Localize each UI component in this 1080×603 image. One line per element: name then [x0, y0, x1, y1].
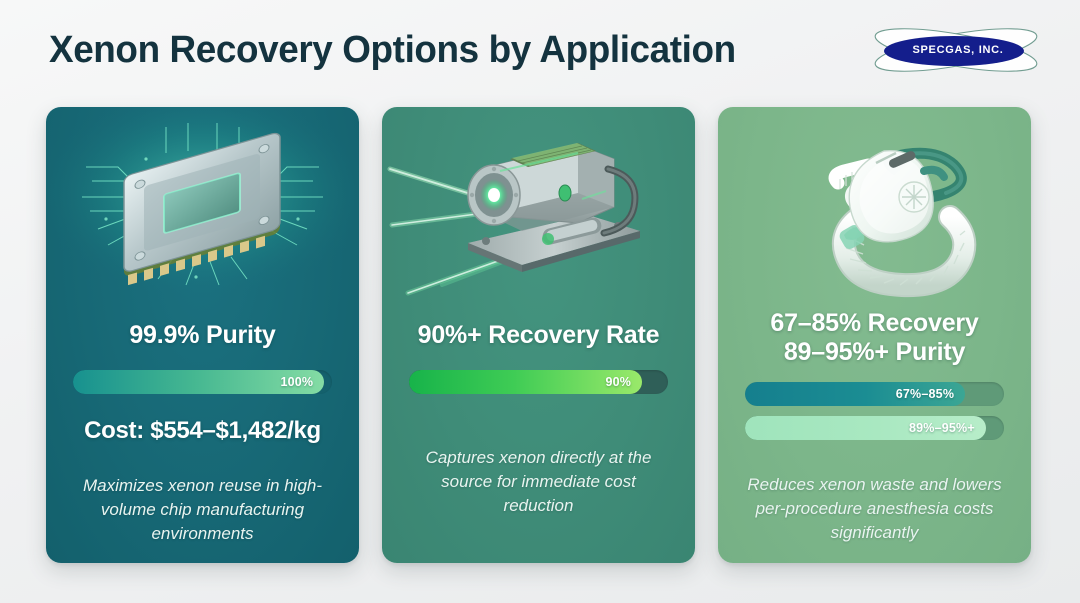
card-bars: 90% [382, 370, 695, 404]
card-semiconductor[interactable]: 99.9% Purity 100% Cost: $554–$1,482/kg M… [46, 107, 359, 563]
card-anesthesia[interactable]: 67–85% Recovery 89–95%+ Purity 67%–85% 8… [718, 107, 1031, 563]
card-headline: 99.9% Purity [115, 321, 289, 350]
progress-bar-fill: 90% [409, 370, 642, 394]
card-bars: 67%–85% 89%–95%+ [718, 382, 1031, 450]
card-description: Reduces xenon waste and lowers per-proce… [718, 473, 1031, 545]
progress-bar-purity[interactable]: 100% [73, 370, 332, 394]
anesthesia-mask-icon [718, 107, 1031, 299]
cards-row: 99.9% Purity 100% Cost: $554–$1,482/kg M… [46, 107, 1034, 563]
page-title: Xenon Recovery Options by Application [49, 29, 736, 72]
progress-bar-recovery[interactable]: 67%–85% [745, 382, 1004, 406]
microchip-icon [46, 107, 359, 299]
logo-text: SPECGAS, INC. [872, 19, 1040, 81]
card-laser[interactable]: 90%+ Recovery Rate 90% Captures xenon di… [382, 107, 695, 563]
card-headline: 67–85% Recovery 89–95%+ Purity [756, 309, 992, 366]
card-headline: 90%+ Recovery Rate [404, 321, 674, 350]
progress-bar-label: 90% [605, 375, 631, 389]
card-headline-line1: 67–85% Recovery [770, 309, 978, 338]
progress-bar-label: 67%–85% [896, 387, 954, 401]
progress-bar-label: 89%–95%+ [909, 421, 975, 435]
progress-bar-fill: 100% [73, 370, 324, 394]
card-description: Maximizes xenon reuse in high-volume chi… [46, 474, 359, 546]
progress-bar-fill: 67%–85% [745, 382, 965, 406]
progress-bar-purity[interactable]: 89%–95%+ [745, 416, 1004, 440]
card-headline-line2: 89–95%+ Purity [770, 338, 978, 367]
card-cost: Cost: $554–$1,482/kg [84, 417, 321, 445]
company-logo: SPECGAS, INC. [872, 19, 1040, 81]
progress-bar-recovery[interactable]: 90% [409, 370, 668, 394]
progress-bar-fill: 89%–95%+ [745, 416, 986, 440]
card-description: Captures xenon directly at the source fo… [382, 446, 695, 518]
card-bars: 100% [46, 370, 359, 404]
page-header: Xenon Recovery Options by Application SP… [0, 0, 1080, 100]
progress-bar-label: 100% [280, 375, 313, 389]
excimer-laser-icon [382, 107, 695, 299]
